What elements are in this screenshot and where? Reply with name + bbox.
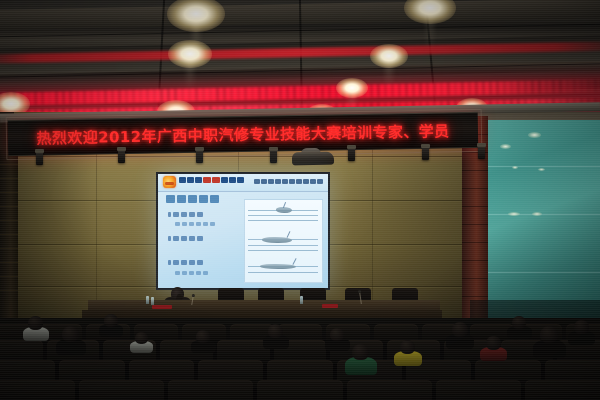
audience-head — [28, 316, 43, 330]
slide-header-subtitle — [254, 179, 323, 184]
led-pixel — [552, 80, 555, 93]
auditorium-seat — [347, 380, 432, 400]
audience-head — [574, 320, 589, 334]
led-pixel — [118, 90, 121, 103]
led-pixel — [461, 82, 464, 95]
table-placard — [152, 305, 172, 309]
led-pixel — [209, 88, 212, 101]
led-pixel — [321, 85, 324, 98]
audience-head — [62, 326, 79, 342]
audience-hall — [0, 318, 600, 400]
glass-reflection — [538, 168, 545, 171]
led-pixel — [90, 91, 93, 104]
slide-diagram-panel — [244, 199, 323, 283]
led-pixel — [531, 81, 534, 94]
led-pixel — [34, 92, 37, 105]
auditorium-seat — [257, 380, 342, 400]
water-bottle — [300, 296, 303, 304]
led-pixel — [272, 87, 275, 100]
audience-head — [135, 332, 148, 344]
audience-head — [352, 344, 369, 360]
led-pixel — [489, 82, 492, 95]
led-pixel — [293, 86, 296, 99]
slide-bullet-2 — [168, 236, 203, 241]
led-pixel — [377, 84, 380, 97]
led-pixel — [146, 89, 149, 102]
seat-row — [0, 380, 600, 400]
led-pixel — [468, 82, 471, 95]
led-pixel — [111, 90, 114, 103]
track-light — [196, 150, 203, 163]
led-pixel — [153, 89, 156, 102]
led-pixel — [230, 88, 233, 101]
led-pixel — [223, 88, 226, 101]
led-pixel — [314, 86, 317, 99]
led-pixel — [524, 81, 527, 94]
led-pixel — [300, 86, 303, 99]
led-pixel — [573, 80, 576, 93]
auditorium-seat — [0, 380, 75, 400]
led-pixel — [244, 87, 247, 100]
led-pixel — [538, 81, 541, 94]
led-pixel — [251, 87, 254, 100]
audience-head — [104, 314, 118, 327]
led-pixel — [566, 80, 569, 93]
led-pixel — [216, 88, 219, 101]
glass-reflection — [512, 166, 518, 169]
led-pixel — [125, 90, 128, 103]
led-pixel — [132, 90, 135, 103]
glass-seam — [488, 214, 600, 215]
led-pixel — [265, 87, 268, 100]
presentation-slide — [158, 174, 328, 288]
spotlight-beam — [427, 10, 433, 50]
audience-head — [512, 316, 526, 329]
slide-bullet-3-subtext — [175, 271, 208, 275]
led-pixel — [202, 88, 205, 101]
led-pixel — [69, 91, 72, 104]
auditorium-seat — [79, 380, 164, 400]
track-light — [422, 147, 429, 160]
led-pixel — [286, 86, 289, 99]
track-light — [478, 146, 485, 159]
led-pixel — [426, 83, 429, 96]
slide-diagram-1 — [248, 202, 318, 226]
led-pixel — [454, 82, 457, 95]
led-pixel — [594, 79, 597, 92]
track-light — [118, 150, 125, 163]
track-light — [36, 152, 43, 165]
slide-diagram-3 — [248, 256, 318, 280]
photo-scene: 热烈欢迎2012年广西中职汽修专业技能大赛培训专家、学员 — [0, 0, 600, 400]
glass-reflection — [528, 132, 541, 138]
spotlight-beam — [386, 58, 392, 88]
audience-head — [196, 330, 210, 343]
slide-diagram-2 — [248, 230, 318, 254]
company-logo-text — [179, 177, 244, 183]
projection-screen — [156, 172, 330, 290]
led-pixel — [482, 82, 485, 95]
led-pixel — [447, 83, 450, 96]
banner-text: 热烈欢迎2012年广西中职汽修专业技能大赛培训专家、学员 — [36, 120, 449, 148]
glass-reflection — [500, 144, 511, 149]
company-logo-icon — [163, 176, 176, 188]
glass-reflection — [508, 212, 520, 216]
audience-head — [330, 328, 344, 341]
slide-header — [158, 174, 328, 192]
led-pixel — [545, 80, 548, 93]
led-pixel — [62, 91, 65, 104]
glass-wall — [488, 120, 600, 330]
spotlight-beam — [187, 56, 193, 91]
led-pixel — [370, 84, 373, 97]
slide-bullet-1 — [168, 212, 203, 217]
led-pixel — [580, 80, 583, 93]
glass-seam — [488, 272, 600, 273]
audience-head — [268, 324, 283, 338]
car-graphic-icon — [292, 152, 334, 166]
led-pixel — [48, 92, 51, 105]
auditorium-seat — [436, 380, 521, 400]
table-placard — [322, 304, 338, 308]
led-pixel — [195, 88, 198, 101]
led-pixel — [104, 90, 107, 103]
led-pixel — [496, 81, 499, 94]
audience-head — [486, 336, 501, 350]
led-pixel — [510, 81, 513, 94]
auditorium-seat — [168, 380, 253, 400]
led-pixel — [83, 91, 86, 104]
led-pixel — [517, 81, 520, 94]
water-bottle — [151, 297, 154, 305]
led-pixel — [76, 91, 79, 104]
led-pixel — [139, 90, 142, 103]
slide-bullet-1-subtext — [175, 222, 215, 226]
led-pixel — [559, 80, 562, 93]
slide-title — [166, 195, 219, 203]
led-pixel — [279, 86, 282, 99]
audience-head — [400, 340, 415, 354]
left-speaker-stack — [0, 150, 18, 325]
led-pixel — [419, 83, 422, 96]
led-pixel — [433, 83, 436, 96]
led-pixel — [412, 83, 415, 96]
water-bottle — [146, 296, 149, 304]
glass-seam — [488, 166, 600, 167]
led-pixel — [405, 84, 408, 97]
led-pixel — [475, 82, 478, 95]
audience-head — [540, 326, 558, 343]
led-pixel — [55, 91, 58, 104]
slide-bullet-3 — [168, 260, 203, 265]
audience-head — [452, 322, 468, 337]
led-pixel — [307, 86, 310, 99]
led-pixel — [587, 79, 590, 92]
track-light — [348, 148, 355, 161]
led-pixel — [97, 91, 100, 104]
glass-reflection — [532, 212, 542, 216]
led-pixel — [398, 84, 401, 97]
led-pixel — [41, 92, 44, 105]
track-light — [270, 150, 277, 163]
led-pixel — [160, 89, 163, 102]
led-pixel — [258, 87, 261, 100]
ceiling — [0, 0, 600, 118]
led-pixel — [328, 85, 331, 98]
led-pixel — [503, 81, 506, 94]
auditorium-seat — [525, 380, 600, 400]
led-pixel — [237, 87, 240, 100]
led-pixel — [440, 83, 443, 96]
